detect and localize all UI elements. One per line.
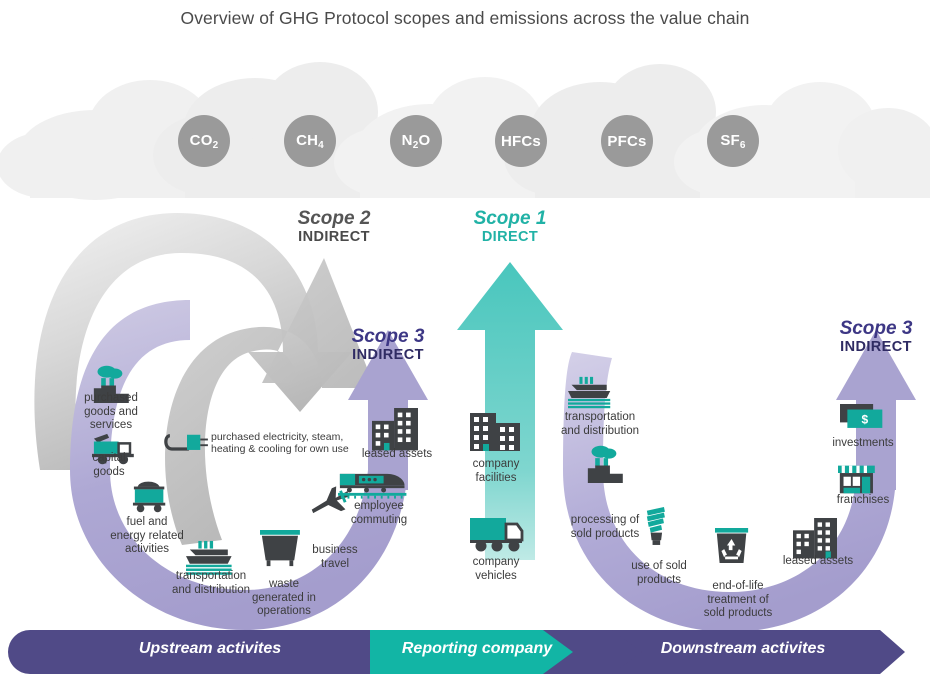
- scope-2-label: Scope 2 INDIRECT: [274, 208, 394, 246]
- banner-label-downstream: Downstream activites: [588, 640, 898, 658]
- waste-bin-icon: [260, 530, 300, 566]
- storefront-icon: [838, 466, 875, 494]
- scope-3-downstream-label: Scope 3 INDIRECT: [818, 318, 930, 356]
- caption-fuel-energy: fuel and energy related activities: [100, 516, 194, 557]
- gas-bubble-sf6: SF6: [707, 115, 759, 167]
- delivery-truck-icon: [470, 518, 522, 552]
- gas-bubble-hfcs: HFCs: [495, 115, 547, 167]
- caption-employee-commuting: employee commuting: [336, 500, 422, 527]
- gas-bubble-ch4: CH4: [284, 115, 336, 167]
- caption-business-travel: business travel: [300, 544, 370, 571]
- caption-processing-sold: processing of sold products: [558, 514, 652, 541]
- gas-bubble-co2: CO2: [178, 115, 230, 167]
- gas-bubble-n2o: N2O: [390, 115, 442, 167]
- scope-1-label: Scope 1 DIRECT: [450, 208, 570, 246]
- caption-investments: investments: [818, 437, 908, 451]
- cloud-band: [0, 62, 930, 200]
- caption-end-of-life: end-of-life treatment of sold products: [692, 580, 784, 621]
- coal-wagon-icon: [133, 482, 165, 513]
- banner-label-reporting: Reporting company: [382, 640, 572, 658]
- caption-transportation-downstream: transportation and distribution: [548, 411, 652, 438]
- caption-waste-generated: waste generated in operations: [240, 578, 328, 619]
- banner-label-upstream: Upstream activites: [40, 640, 380, 658]
- caption-leased-assets-upstream: leased assets: [352, 448, 442, 462]
- caption-use-sold-products: use of sold products: [616, 560, 702, 587]
- caption-capital-goods: capital goods: [72, 452, 146, 479]
- office-buildings-icon: [793, 518, 837, 558]
- ghg-scopes-diagram: Overview of GHG Protocol scopes and emis…: [0, 0, 930, 680]
- svg-text:$: $: [862, 412, 869, 426]
- caption-purchased-electricity: purchased electricity, steam, heating & …: [211, 431, 351, 456]
- caption-purchased-goods: purchased goods and services: [70, 392, 152, 433]
- gas-bubble-pfcs: PFCs: [601, 115, 653, 167]
- scope-3-upstream-label: Scope 3 INDIRECT: [330, 326, 446, 364]
- train-icon: [338, 474, 406, 499]
- caption-franchises: franchises: [824, 494, 902, 508]
- caption-company-vehicles: company vehicles: [456, 556, 536, 583]
- caption-company-facilities: company facilities: [456, 458, 536, 485]
- caption-leased-assets-downstream: leased assets: [770, 555, 866, 569]
- recycle-bin-icon: [715, 528, 748, 563]
